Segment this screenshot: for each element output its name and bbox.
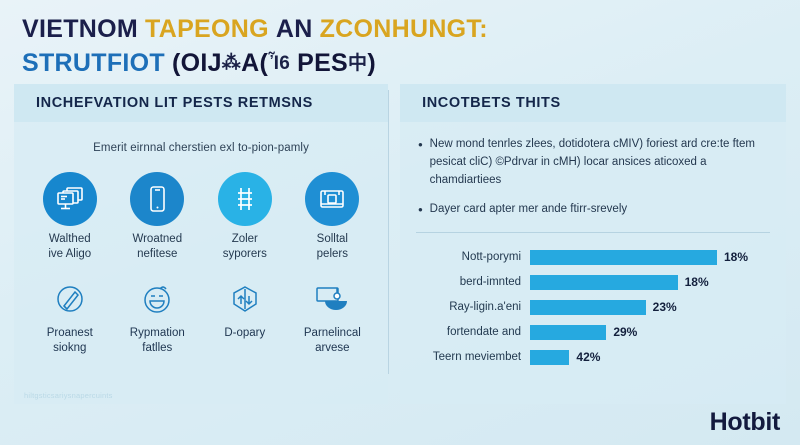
subtitle-mid: A( bbox=[241, 49, 268, 77]
pen-circle-icon bbox=[47, 276, 93, 322]
table-row: Ray-ligin.a'eni 23% bbox=[408, 297, 776, 317]
title-line-1: VIETNOMTAPEONGANZCONHUNGT: bbox=[22, 12, 800, 46]
right-panel-header: INCOTBETS THITS bbox=[400, 84, 786, 122]
bar-value-4: 29% bbox=[613, 325, 637, 339]
subtitle-paren-close: ) bbox=[367, 49, 376, 77]
title-line-2: STRUTFIOT(OIJ⁂A(Ἶ6PES中) bbox=[22, 46, 800, 80]
title-word-4: ZCONHUNGT: bbox=[320, 15, 488, 43]
icon-cell-4[interactable]: Solltal pelers bbox=[289, 172, 377, 262]
table-row: Nott-porymi 18% bbox=[408, 247, 776, 267]
smiley-face-icon bbox=[134, 276, 180, 322]
bar-track-5: 42% bbox=[530, 350, 776, 365]
icon-label-1-line1: Walthed bbox=[49, 233, 91, 245]
icon-label-1-line2: ive Aligo bbox=[48, 248, 91, 260]
icon-label-3: Zoler syporers bbox=[202, 232, 288, 262]
icon-label-2-line2: nefitese bbox=[137, 248, 177, 260]
bar-label-5: Teern meviembet bbox=[408, 351, 530, 363]
icon-label-6: Rypmation fatlles bbox=[114, 326, 200, 356]
icon-label-4: Solltal pelers bbox=[289, 232, 375, 262]
left-panel: INCHEFVATION LIT PESTS RETMSNS Emerit ei… bbox=[14, 84, 388, 404]
subtitle-word-main: STRUTFIOT bbox=[22, 49, 165, 77]
icon-label-3-line2: syporers bbox=[223, 248, 267, 260]
icon-label-5-line2: siokng bbox=[53, 342, 86, 354]
card-box-icon bbox=[305, 172, 359, 226]
icon-grid-row-2: Proanest siokng bbox=[14, 262, 388, 356]
shield-arrows-icon bbox=[222, 276, 268, 322]
mobile-phone-icon bbox=[130, 172, 184, 226]
bar-track-3: 23% bbox=[530, 300, 776, 315]
icon-label-6-line2: fatlles bbox=[142, 342, 172, 354]
panel-divider bbox=[388, 90, 389, 374]
bar-value-5: 42% bbox=[576, 350, 600, 364]
title-word-1: VIETNOM bbox=[22, 15, 138, 43]
icon-label-8-line2: arvese bbox=[315, 342, 350, 354]
icon-cell-1[interactable]: Walthed ive Aligo bbox=[26, 172, 114, 262]
left-panel-header: INCHEFVATION LIT PESTS RETMSNS bbox=[14, 84, 388, 122]
subtitle-tail: PES bbox=[297, 49, 348, 77]
right-panel-body: INCOTBETS THITS • New mond tenrles zlees… bbox=[400, 84, 786, 404]
subtitle-paren-open: (OIJ bbox=[172, 49, 222, 77]
bar-value-3: 23% bbox=[653, 300, 677, 314]
icon-label-7: D-opary bbox=[202, 326, 288, 341]
icon-cell-2[interactable]: Wroatned nefitese bbox=[114, 172, 202, 262]
panels-container: INCHEFVATION LIT PESTS RETMSNS Emerit ei… bbox=[0, 84, 800, 404]
table-row: Teern meviembet 42% bbox=[408, 347, 776, 367]
icon-grid-row-1: Walthed ive Aligo Wroatned nef bbox=[14, 154, 388, 262]
bullet-dot-icon: • bbox=[418, 201, 423, 220]
page-header: VIETNOMTAPEONGANZCONHUNGT: STRUTFIOT(OIJ… bbox=[0, 0, 800, 84]
watermark-text: hiltgsticsariysnapercuints bbox=[24, 391, 113, 400]
icon-cell-8[interactable]: Parnelincal arvese bbox=[289, 276, 377, 356]
icon-cell-5[interactable]: Proanest siokng bbox=[26, 276, 114, 356]
bar-3 bbox=[530, 300, 646, 315]
bullet-list: • New mond tenrles zlees, dotidotera cMI… bbox=[400, 122, 786, 220]
table-row: berd-imnted 18% bbox=[408, 272, 776, 292]
bar-4 bbox=[530, 325, 606, 340]
title-word-3: AN bbox=[276, 15, 313, 43]
icon-label-4-line2: pelers bbox=[317, 248, 348, 260]
bullet-text-1: New mond tenrles zlees, dotidotera cMIV)… bbox=[430, 136, 770, 189]
list-item: • New mond tenrles zlees, dotidotera cMI… bbox=[418, 136, 770, 189]
bullet-dot-icon: • bbox=[418, 136, 423, 189]
bank-building-icon: Ἶ6 bbox=[268, 53, 290, 74]
bar-1 bbox=[530, 250, 717, 265]
horizontal-bar-chart: Nott-porymi 18% berd-imnted 18% Ray-ligi… bbox=[400, 233, 786, 367]
bar-2 bbox=[530, 275, 678, 290]
bar-value-1: 18% bbox=[724, 250, 748, 264]
icon-label-3-line1: Zoler bbox=[232, 233, 258, 245]
icon-label-4-line1: Solltal bbox=[317, 233, 348, 245]
icon-label-7-line1: D-opary bbox=[224, 327, 265, 339]
brand-logo: Hotbit bbox=[710, 408, 780, 437]
bar-label-4: fortendate and bbox=[408, 326, 530, 338]
list-item: • Dayer card apter mer ande ftirr-srevel… bbox=[418, 201, 770, 220]
asterisk-glyph-icon: ⁂ bbox=[222, 53, 241, 74]
icon-label-8-line1: Parnelincal bbox=[304, 327, 361, 339]
bar-value-2: 18% bbox=[685, 275, 709, 289]
title-word-2: TAPEONG bbox=[145, 15, 269, 43]
icon-label-2: Wroatned nefitese bbox=[114, 232, 200, 262]
bar-5 bbox=[530, 350, 569, 365]
icon-label-2-line1: Wroatned bbox=[132, 233, 182, 245]
icon-label-8: Parnelincal arvese bbox=[289, 326, 375, 356]
left-panel-subtitle: Emerit eirnnal cherstien exl to-pion-pam… bbox=[14, 122, 388, 154]
monitor-windows-icon bbox=[43, 172, 97, 226]
icon-label-5-line1: Proanest bbox=[47, 327, 93, 339]
left-panel-body: INCHEFVATION LIT PESTS RETMSNS Emerit ei… bbox=[14, 84, 388, 404]
cjk-glyph-icon: 中 bbox=[348, 53, 367, 74]
icon-label-6-line1: Rypmation bbox=[130, 327, 185, 339]
ladder-grid-icon bbox=[218, 172, 272, 226]
icon-cell-7[interactable]: D-opary bbox=[201, 276, 289, 356]
icon-label-5: Proanest siokng bbox=[27, 326, 113, 356]
right-panel: INCOTBETS THITS • New mond tenrles zlees… bbox=[400, 84, 786, 404]
bar-label-3: Ray-ligin.a'eni bbox=[408, 301, 530, 313]
icon-cell-6[interactable]: Rypmation fatlles bbox=[114, 276, 202, 356]
bar-track-2: 18% bbox=[530, 275, 776, 290]
bar-label-2: berd-imnted bbox=[408, 276, 530, 288]
icon-cell-3[interactable]: Zoler syporers bbox=[201, 172, 289, 262]
icon-label-1: Walthed ive Aligo bbox=[27, 232, 113, 262]
bullet-text-2: Dayer card apter mer ande ftirr-srevely bbox=[430, 201, 627, 220]
bar-label-1: Nott-porymi bbox=[408, 251, 530, 263]
bar-track-1: 18% bbox=[530, 250, 776, 265]
table-row: fortendate and 29% bbox=[408, 322, 776, 342]
bar-track-4: 29% bbox=[530, 325, 776, 340]
screen-bowl-icon bbox=[309, 276, 355, 322]
